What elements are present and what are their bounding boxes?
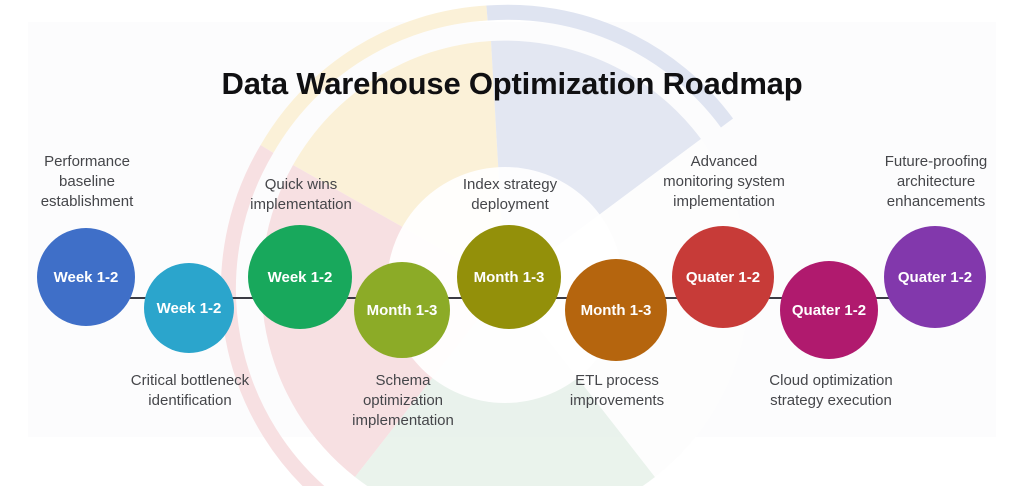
milestone-node[interactable]: Month 1-3 (354, 262, 450, 358)
milestone-caption: Critical bottleneck identification (104, 371, 276, 411)
milestone-node[interactable]: Month 1-3 (457, 225, 561, 329)
milestone-caption: Schema optimization implementation (322, 371, 484, 430)
milestone-caption: Advanced monitoring system implementatio… (642, 152, 806, 211)
milestone-node[interactable]: Quater 1-2 (884, 226, 986, 328)
milestone-node[interactable]: Week 1-2 (144, 263, 234, 353)
milestone-caption: ETL process improvements (537, 371, 697, 411)
page-title: Data Warehouse Optimization Roadmap (0, 66, 1024, 102)
milestone-node[interactable]: Quater 1-2 (780, 261, 878, 359)
milestone-caption: Quick wins implementation (223, 175, 379, 215)
roadmap-infographic: Data Warehouse Optimization Roadmap Week… (0, 0, 1024, 486)
milestone-caption: Future-proofing architecture enhancement… (853, 152, 1019, 211)
milestone-caption: Performance baseline establishment (12, 152, 162, 211)
milestone-caption: Cloud optimization strategy execution (744, 371, 918, 411)
milestone-node[interactable]: Month 1-3 (565, 259, 667, 361)
milestone-node[interactable]: Week 1-2 (37, 228, 135, 326)
milestone-node[interactable]: Quater 1-2 (672, 226, 774, 328)
milestone-node[interactable]: Week 1-2 (248, 225, 352, 329)
milestone-caption: Index strategy deployment (432, 175, 588, 215)
